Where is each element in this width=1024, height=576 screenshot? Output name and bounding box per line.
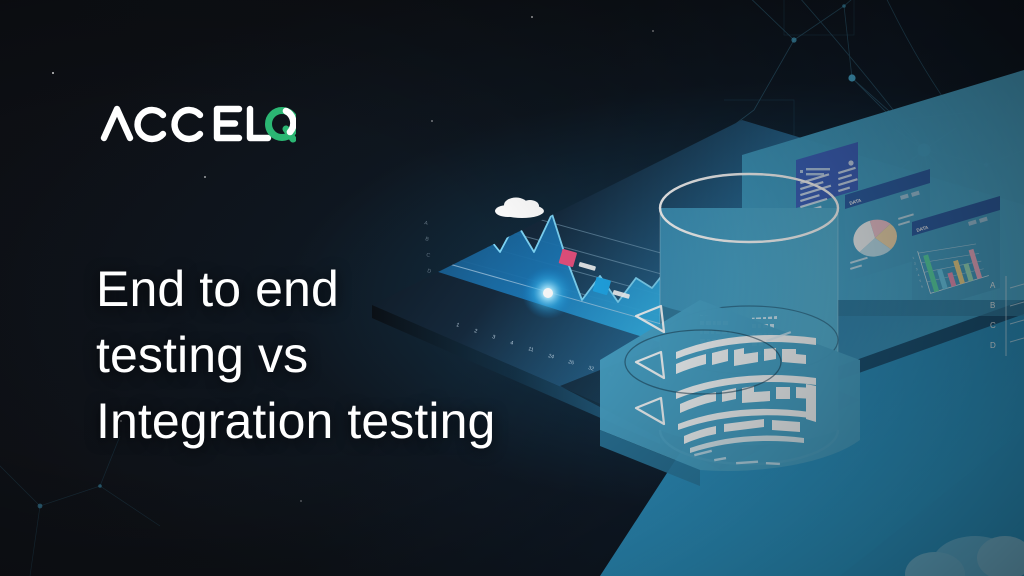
svg-text:B: B bbox=[424, 236, 429, 243]
svg-text:D: D bbox=[990, 341, 996, 350]
accelq-logo[interactable]: ACCELQ bbox=[100, 98, 296, 148]
svg-text:A: A bbox=[423, 220, 428, 227]
page-title: End to end testing vs Integration testin… bbox=[96, 256, 566, 454]
logo-letters-accel bbox=[104, 109, 268, 139]
svg-text:C: C bbox=[990, 321, 996, 330]
svg-text:B: B bbox=[990, 301, 996, 310]
cloud-icon-panel bbox=[495, 198, 544, 219]
hero-banner: 1 2 3 4 11 24 26 32 42 71 A B C D bbox=[0, 0, 1024, 576]
logo-letter-q bbox=[269, 111, 296, 140]
svg-text:A: A bbox=[990, 281, 996, 290]
